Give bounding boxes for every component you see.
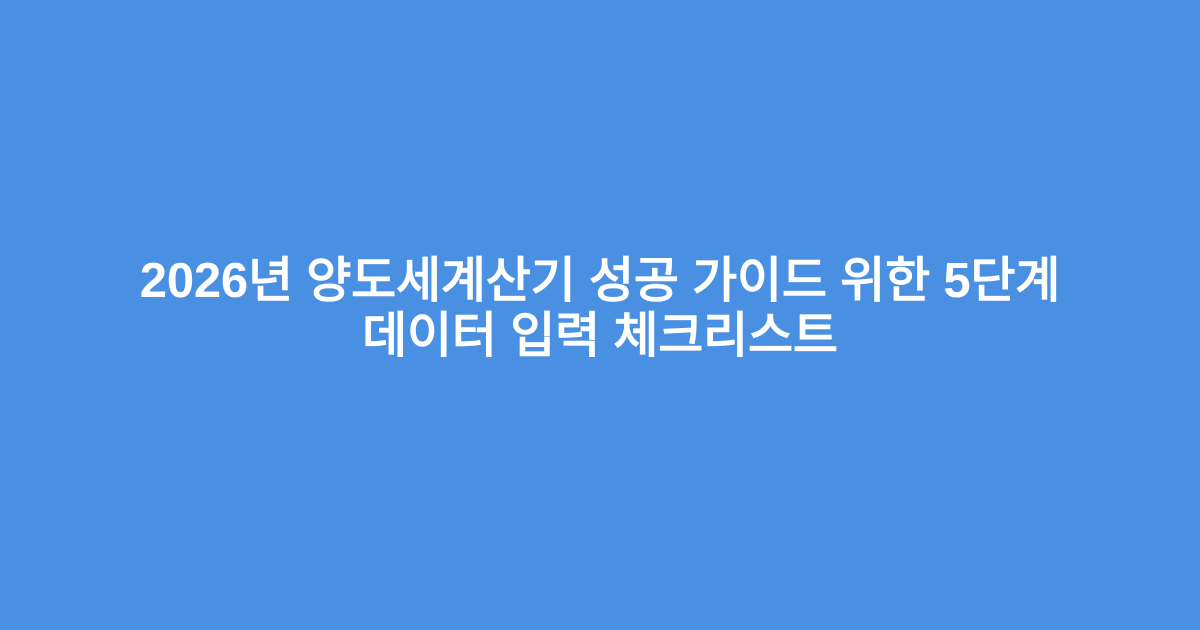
banner-title-line-2: 데이터 입력 체크리스트	[140, 309, 1060, 364]
banner-title: 2026년 양도세계산기 성공 가이드 위한 5단계 데이터 입력 체크리스트	[140, 254, 1060, 364]
banner-title-line-1: 2026년 양도세계산기 성공 가이드 위한 5단계	[140, 254, 1060, 309]
og-banner: 2026년 양도세계산기 성공 가이드 위한 5단계 데이터 입력 체크리스트	[0, 0, 1200, 630]
banner-content: 2026년 양도세계산기 성공 가이드 위한 5단계 데이터 입력 체크리스트	[70, 254, 1130, 364]
